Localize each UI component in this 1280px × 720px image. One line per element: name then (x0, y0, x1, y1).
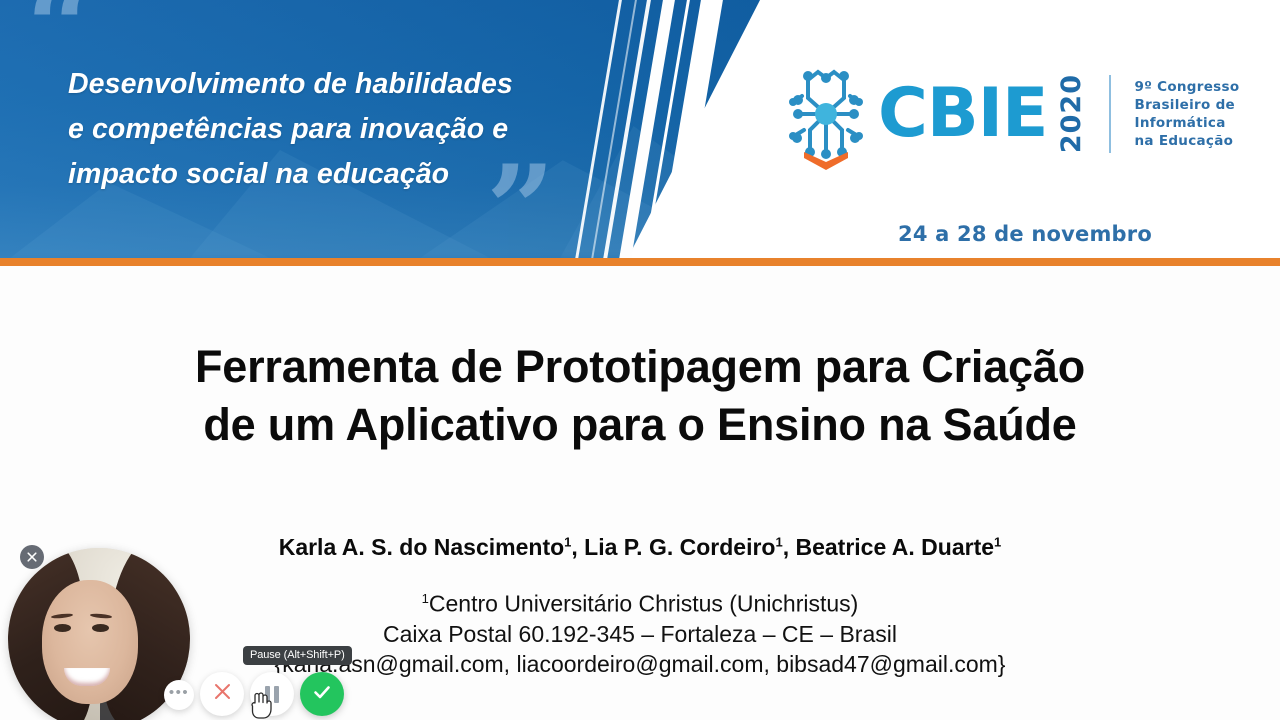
slide-title-line-1: Ferramenta de Prototipagem para Criação (0, 338, 1280, 396)
slide-title-line-2: de um Aplicativo para o Ensino na Saúde (0, 396, 1280, 454)
close-webcam-button[interactable] (20, 545, 44, 569)
webcam-eye-left (54, 624, 71, 632)
cancel-recording-button[interactable] (200, 672, 244, 716)
pause-tooltip: Pause (Alt+Shift+P) (243, 646, 352, 665)
author-separator-2: , (783, 534, 796, 560)
authors-line: Karla A. S. do Nascimento1, Lia P. G. Co… (0, 534, 1280, 561)
affiliation-address: Caixa Postal 60.192-345 – Fortaleza – CE… (0, 619, 1280, 649)
slide-content-area: Ferramenta de Prototipagem para Criação … (0, 266, 1280, 720)
congress-date: 24 a 28 de novembro (770, 222, 1280, 246)
pause-icon (265, 686, 279, 703)
check-icon (311, 681, 333, 708)
webcam-eye-right (92, 624, 109, 632)
author-3-affiliation-marker: 1 (994, 534, 1001, 549)
orange-divider-rule (0, 258, 1280, 266)
author-1-name: Karla A. S. do Nascimento (279, 534, 564, 560)
banner-headline-line-3: impacto social na educação (68, 152, 628, 197)
banner-headline-line-1: Desenvolvimento de habilidades (68, 62, 628, 107)
screen-recorder-toolbar: ••• (164, 672, 344, 716)
slide-header-banner: “ ” Desenvolvimento de habilidades e com… (0, 0, 1280, 266)
congress-line-1: 9º Congresso (1135, 78, 1240, 96)
congress-line-2: Brasileiro de (1135, 96, 1240, 114)
affiliation-institution-line: 1Centro Universitário Christus (Unichris… (0, 584, 1280, 619)
author-2-name: Lia P. G. Cordeiro (584, 534, 775, 560)
cancel-icon (213, 682, 232, 706)
finish-recording-button[interactable] (300, 672, 344, 716)
more-options-button[interactable]: ••• (164, 680, 194, 710)
cbie-logo-area: CBIE 2020 9º Congresso Brasileiro de Inf… (770, 0, 1280, 258)
presentation-screen: “ ” Desenvolvimento de habilidades e com… (0, 0, 1280, 720)
logo-divider (1109, 75, 1111, 153)
cbie-network-tree-icon (784, 58, 868, 170)
banner-headline: Desenvolvimento de habilidades e competê… (68, 62, 628, 197)
congress-line-4: na Educação (1135, 132, 1240, 150)
cbie-wordmark: CBIE (878, 83, 1048, 146)
author-separator-1: , (571, 534, 584, 560)
more-options-icon: ••• (169, 685, 189, 700)
congress-line-3: Informática (1135, 114, 1240, 132)
affiliation-block: 1Centro Universitário Christus (Unichris… (0, 584, 1280, 679)
affiliation-marker: 1 (422, 591, 429, 606)
affiliation-institution: Centro Universitário Christus (Unichrist… (429, 591, 858, 617)
cbie-year: 2020 (1056, 74, 1087, 153)
webcam-video-bubble[interactable] (8, 548, 190, 720)
author-2-affiliation-marker: 1 (775, 534, 782, 549)
close-icon (26, 551, 38, 563)
banner-headline-line-2: e competências para inovação e (68, 107, 628, 152)
slide-title: Ferramenta de Prototipagem para Criação … (0, 338, 1280, 454)
pause-recording-button[interactable] (250, 672, 294, 716)
congress-subtitle: 9º Congresso Brasileiro de Informática n… (1135, 78, 1240, 150)
author-3-name: Beatrice A. Duarte (795, 534, 994, 560)
